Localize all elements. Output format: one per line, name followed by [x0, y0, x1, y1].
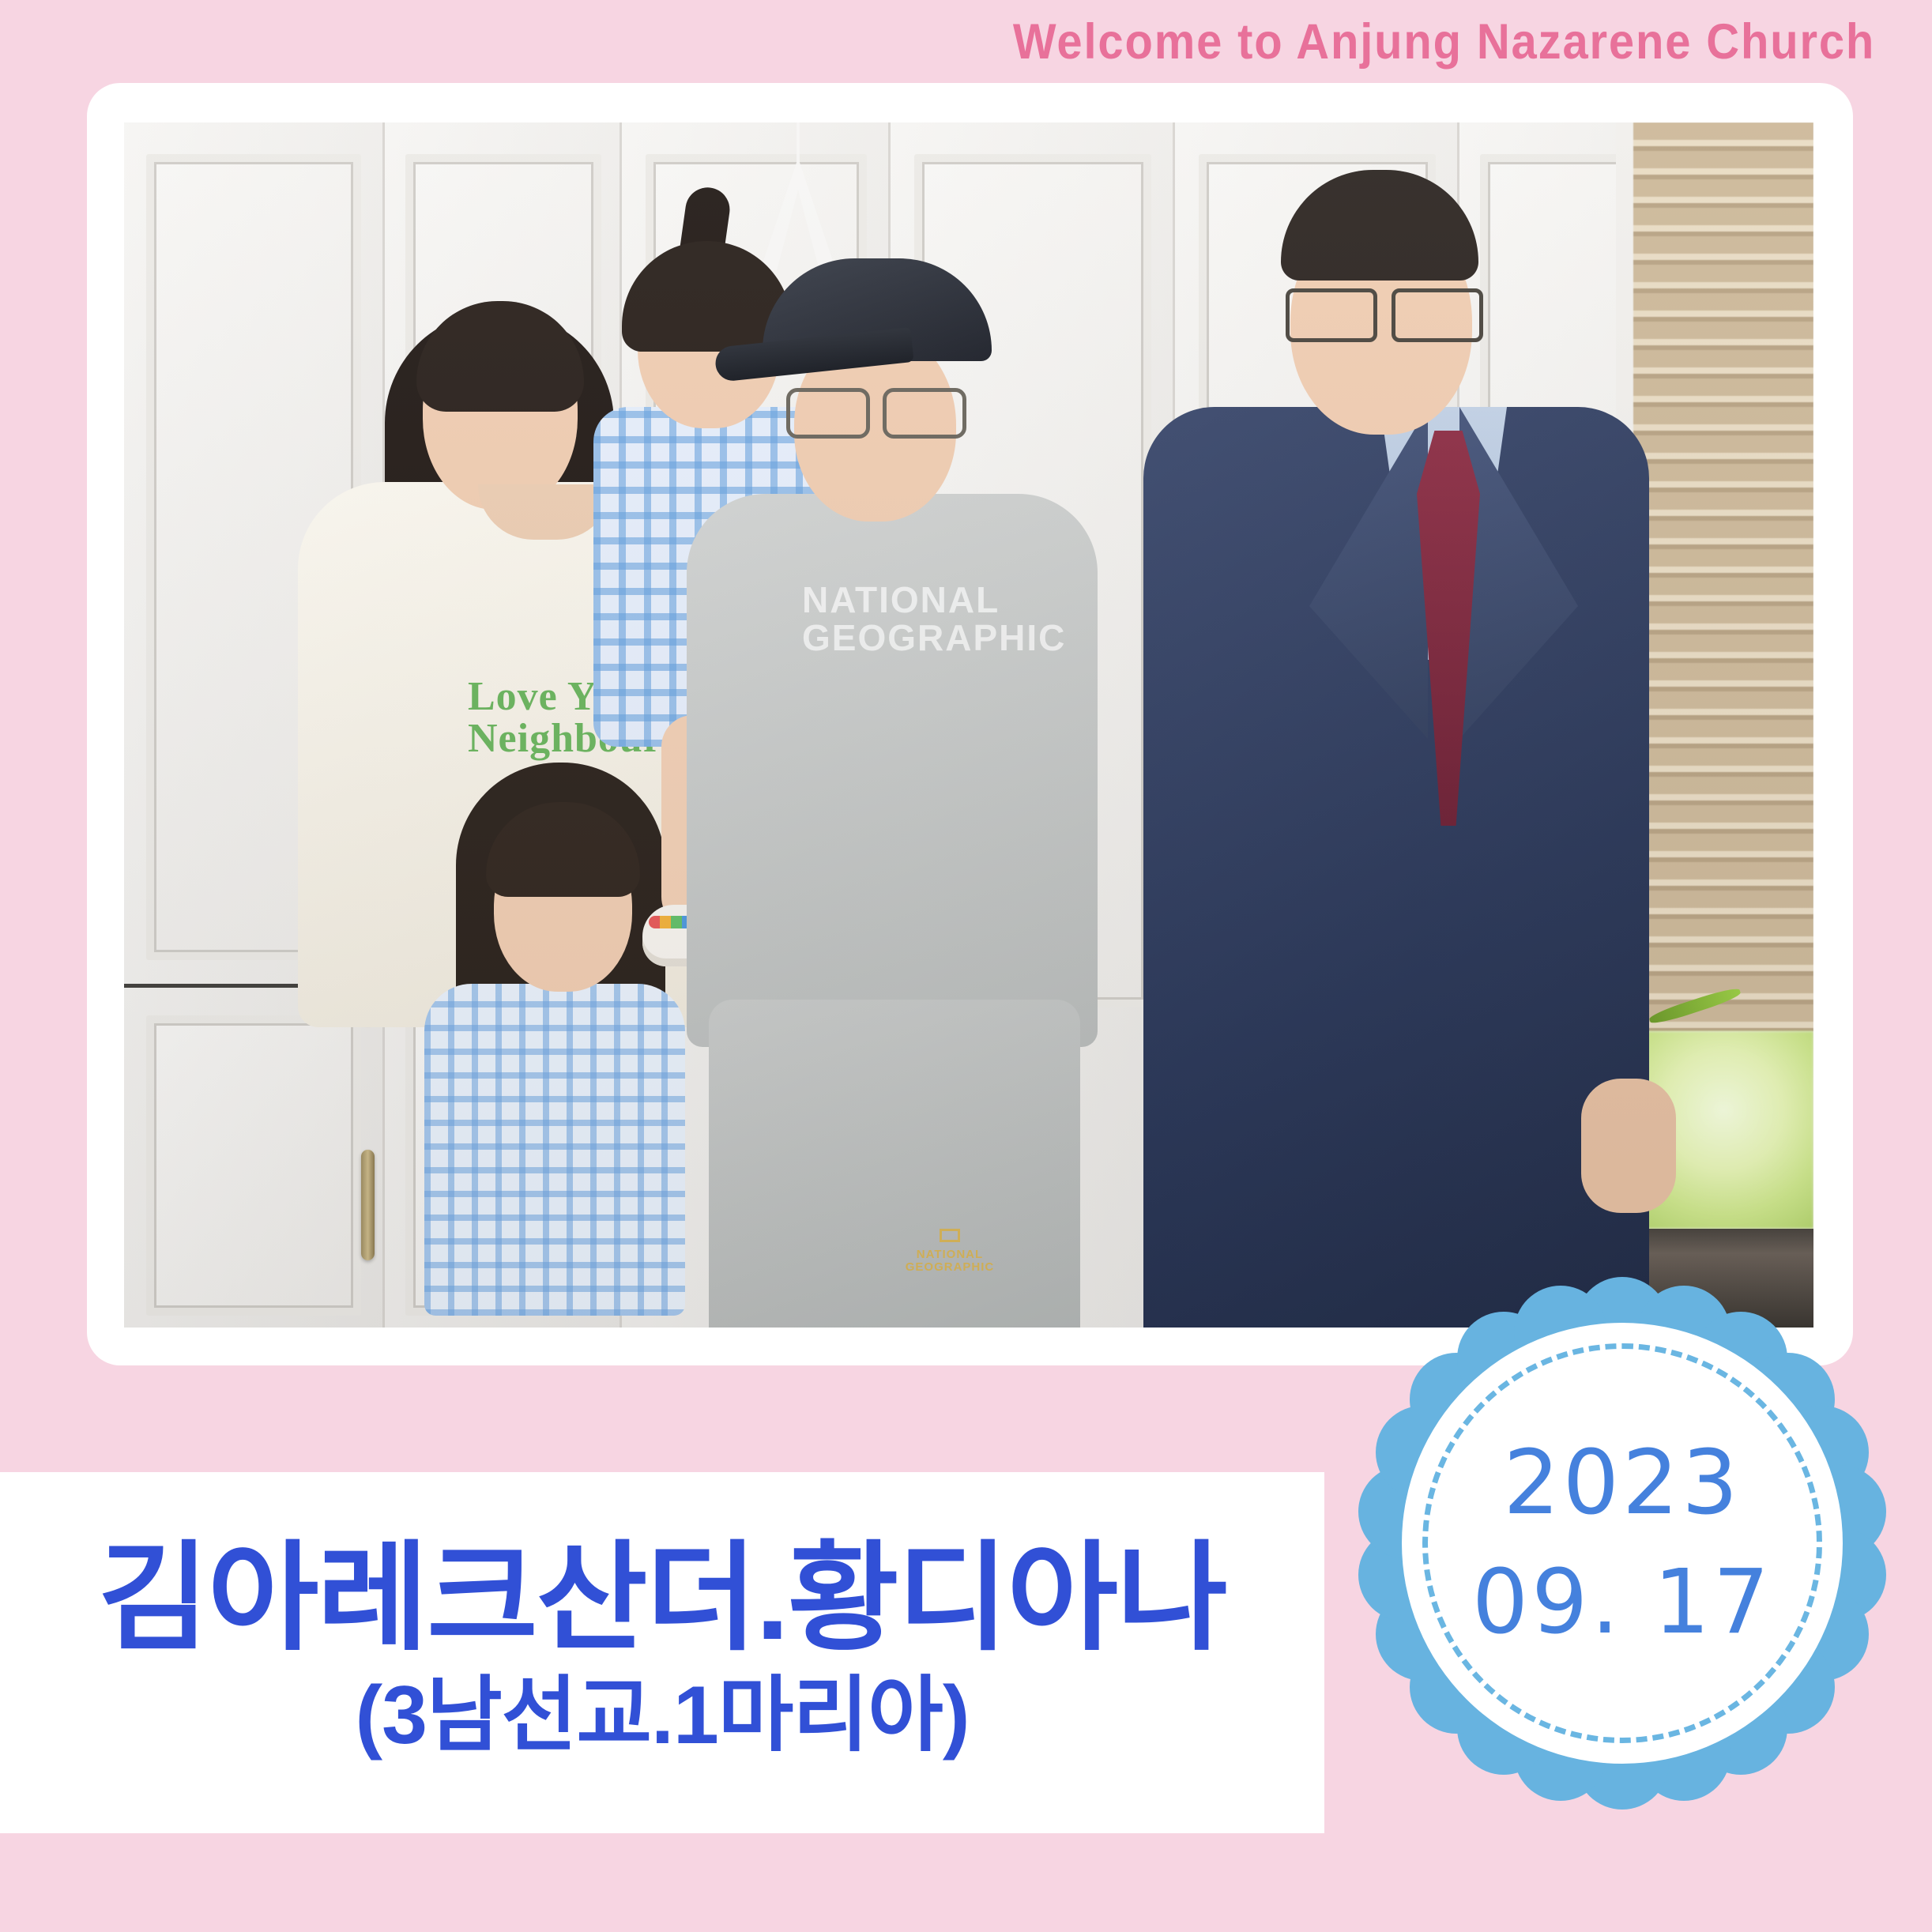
date-month-day: 09. 17 — [1472, 1554, 1772, 1652]
glasses-icon — [1286, 288, 1483, 334]
family-photo: Love Your Neighbour — [124, 122, 1813, 1328]
date-disc: 2023 09. 17 — [1402, 1323, 1843, 1764]
date-year: 2023 — [1503, 1434, 1741, 1533]
person-father: NATIONAL GEOGRAPHIC NATIONAL GEOGRAPHIC — [756, 241, 1128, 1328]
photo-scene: Love Your Neighbour — [124, 122, 1813, 1328]
natgeo-shirt-print: NATIONAL GEOGRAPHIC — [802, 581, 1031, 657]
pastor-hand — [1581, 1079, 1676, 1213]
glasses-icon — [786, 388, 966, 431]
date-badge: 2023 09. 17 — [1358, 1279, 1887, 1808]
photo-frame: Love Your Neighbour — [87, 83, 1853, 1365]
welcome-header: Welcome to Anjung Nazarene Church — [0, 0, 1932, 83]
family-name-primary: 김아레크산더.황디아나 — [98, 1538, 1226, 1657]
welcome-title: Welcome to Anjung Nazarene Church — [1013, 13, 1875, 70]
cabinet-handle-2 — [361, 1150, 375, 1260]
natgeo-pants-badge: NATIONAL GEOGRAPHIC — [903, 1229, 996, 1275]
name-band: 김아레크산더.황디아나 (3남선교.1마리아) — [0, 1472, 1324, 1833]
dashed-ring — [1422, 1343, 1822, 1743]
person-pastor — [1262, 170, 1768, 1328]
family-name-secondary: (3남선교.1마리아) — [356, 1674, 970, 1757]
